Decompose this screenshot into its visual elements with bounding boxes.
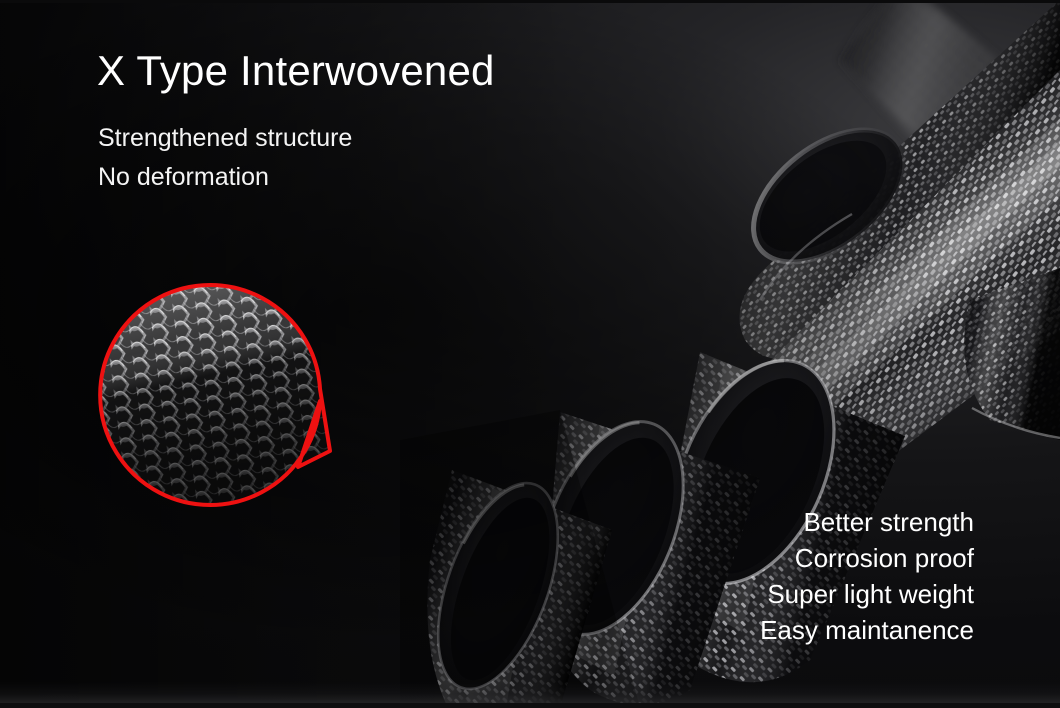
feature-item-4: Easy maintanence — [760, 612, 974, 648]
weave-texture — [92, 281, 342, 509]
feature-list: Better strength Corrosion proof Super li… — [760, 504, 974, 648]
page-title: X Type Interwovened — [97, 47, 495, 94]
subtitle-line-2: No deformation — [98, 158, 352, 197]
subtitle-block: Strengthened structure No deformation — [98, 119, 352, 197]
bottom-edge-line — [0, 703, 1060, 708]
feature-item-3: Super light weight — [760, 576, 974, 612]
subtitle-line-1: Strengthened structure — [98, 119, 352, 158]
feature-item-2: Corrosion proof — [760, 540, 974, 576]
product-banner: X Type Interwovened Strengthened structu… — [0, 0, 1060, 708]
top-edge-line — [0, 0, 1060, 3]
feature-item-1: Better strength — [760, 504, 974, 540]
weave-magnifier-callout — [92, 281, 342, 509]
